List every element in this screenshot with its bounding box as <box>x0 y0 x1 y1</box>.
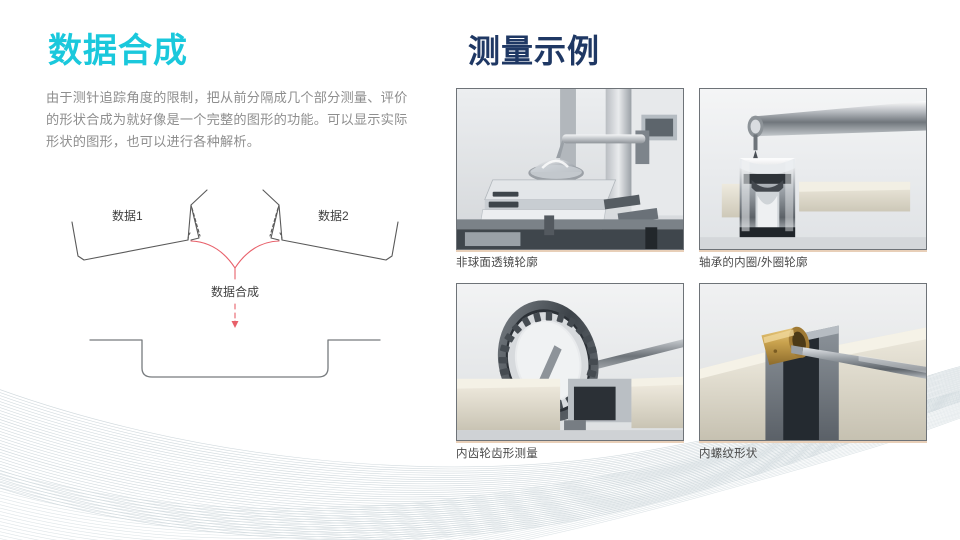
data-synthesis-diagram: 数据1 数据2 数据合成 <box>70 178 400 383</box>
page-title-right: 测量示例 <box>468 34 600 69</box>
gallery-item-internal-thread[interactable]: 内螺纹形状 <box>699 283 927 462</box>
diagram-merged-result <box>90 340 380 377</box>
gallery-item-aspheric-lens[interactable]: 非球面透镜轮廓 <box>456 88 684 271</box>
diagram-profile-left <box>72 190 207 260</box>
photo-frame-aspheric-lens <box>456 88 684 250</box>
photo-aspheric-lens-profile-measurement <box>457 89 683 249</box>
gallery-item-bearing-ring[interactable]: 轴承的内圈/外圈轮廓 <box>699 88 927 271</box>
description-text: 由于测针追踪角度的限制，把从前分隔成几个部分测量、评价的形状合成为就好像是一个完… <box>46 87 418 153</box>
photo-frame-internal-thread <box>699 283 927 441</box>
photo-internal-gear-tooth-profile-measurement <box>457 284 683 440</box>
right-content-panel: 测量示例 <box>440 0 960 540</box>
diagram-label-data2: 数据2 <box>318 208 349 223</box>
photo-bearing-inner-outer-ring-profile <box>700 89 926 249</box>
photo-caption: 内齿轮齿形测量 <box>456 447 684 462</box>
photo-caption: 轴承的内圈/外圈轮廓 <box>699 256 927 271</box>
page-title-left: 数据合成 <box>48 33 188 70</box>
photo-caption: 内螺纹形状 <box>699 447 927 462</box>
photo-internal-thread-shape <box>700 284 926 440</box>
diagram-label-data1: 数据1 <box>112 208 143 223</box>
diagram-profile-right <box>263 190 398 260</box>
left-content-panel: 数据合成 由于测针追踪角度的限制，把从前分隔成几个部分测量、评价的形状合成为就好… <box>0 0 440 540</box>
photo-caption: 非球面透镜轮廓 <box>456 256 684 271</box>
diagram-label-merge: 数据合成 <box>211 284 259 299</box>
gallery-item-internal-gear[interactable]: 内齿轮齿形测量 <box>456 283 684 462</box>
photo-frame-internal-gear <box>456 283 684 441</box>
photo-frame-bearing-ring <box>699 88 927 250</box>
description-paragraph: 由于测针追踪角度的限制，把从前分隔成几个部分测量、评价的形状合成为就好像是一个完… <box>46 87 418 153</box>
